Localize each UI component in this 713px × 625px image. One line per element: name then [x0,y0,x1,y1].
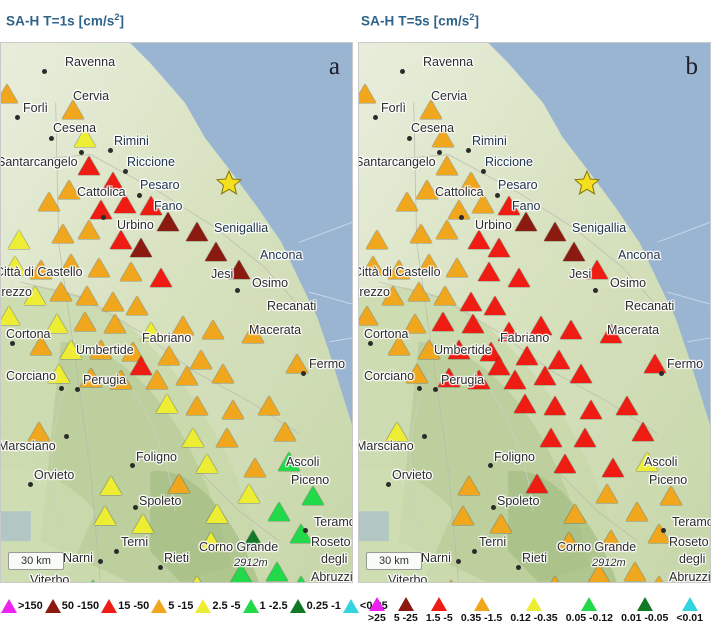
station-triangle [76,286,98,305]
legend-a-row: >15050 -15015 -505 -152.5 -51 -2.50.25 -… [0,588,353,624]
legend-item: 50 -150 [45,599,101,613]
station-triangle [186,222,208,241]
station-triangle [156,394,178,413]
panel-letter-b: b [686,53,699,81]
station-triangle [563,242,585,261]
station-triangle [468,370,490,389]
station-triangle [46,314,68,333]
station-triangle [404,314,426,333]
station-triangle [446,258,468,277]
map-panel-b[interactable]: b RavennaCerviaForlìCesenaRiminiRiccione… [358,42,711,583]
city-dot [437,150,442,155]
station-triangle [438,368,460,387]
land-layer-a [1,43,352,582]
city-dot [373,115,378,120]
station-triangle [458,476,480,495]
map-panel-a[interactable]: a RavennaCerviaForlìCesenaRiminiRiccione… [0,42,353,583]
station-triangle [52,224,74,243]
station-triangle [94,506,116,525]
station-triangle [114,194,136,213]
city-dot [75,387,80,392]
city-dot [661,528,666,533]
city-dot [101,215,106,220]
station-triangle [488,238,510,257]
city-dot [59,386,64,391]
station-triangle [358,306,378,325]
station-triangle [530,316,552,335]
station-triangle [602,458,624,477]
station-triangle [586,260,608,279]
legend-item: 0.35 -1.5 [457,597,507,624]
legend-triangle-icon [526,597,542,611]
legend-item: 0.12 -0.35 [506,597,561,624]
station-triangle [436,156,458,175]
legend-label: 5 -15 [168,600,193,612]
panel-b-title: SA-H T=5s [cm/s2] [361,12,479,29]
legend-panel-a: >15050 -15015 -505 -152.5 -51 -2.50.25 -… [0,588,353,624]
legend-triangle-icon [195,599,211,613]
station-triangle [88,258,110,277]
city-dot [49,136,54,141]
station-triangle [440,580,462,583]
shakemap-figure: SA-H T=1s [cm/s2] SA-H T=5s [cm/s2] [0,0,713,624]
city-dot [386,482,391,487]
station-triangle [172,316,194,335]
station-triangle [436,220,458,239]
station-triangle [290,576,312,583]
station-triangle [644,354,666,373]
station-triangle [408,282,430,301]
station-triangle [132,514,154,533]
station-triangle [74,312,96,331]
panel-b-title-end: ] [475,14,480,29]
station-triangle [382,286,404,305]
legend-triangle-icon [369,597,385,611]
legend-label: 0.25 -1 [307,600,341,612]
legend-label: 1 -2.5 [260,600,288,612]
station-triangle [624,562,646,581]
station-triangle [58,180,80,199]
city-dot [28,482,33,487]
legend-item: 15 -50 [101,599,151,613]
station-triangle [206,504,228,523]
station-triangle [484,296,506,315]
city-dot [593,288,598,293]
city-dot [516,565,521,570]
legend-label: <0.01 [676,612,703,624]
station-triangle [574,428,596,447]
city-dot [42,69,47,74]
legend-label: 5 -25 [394,612,418,624]
station-triangle [396,192,418,211]
legend-triangle-icon [343,599,359,613]
station-triangle [110,370,132,389]
station-triangle [362,256,384,275]
city-dot [488,463,493,468]
station-triangle [126,296,148,315]
legend-triangle-icon [431,597,447,611]
legend-item: 5 -15 [151,599,195,613]
station-triangle [82,580,104,583]
scale-bar-a: 30 km [8,552,64,570]
legend-triangle-icon [45,599,61,613]
station-triangle [120,262,142,281]
legend-triangle-icon [398,597,414,611]
station-triangle [526,474,548,493]
city-dot [472,549,477,554]
station-triangle [302,486,324,505]
station-triangle [8,230,30,249]
city-dot [368,341,373,346]
station-triangle [90,340,112,359]
city-dot [301,371,306,376]
station-triangle [242,324,264,343]
city-dot [79,150,84,155]
city-dot [491,505,496,510]
legend-label: 0.01 -0.05 [621,612,668,624]
panel-a-title-main: SA-H T=1s [cm/s [6,14,114,29]
legend-item: 0.05 -0.12 [562,597,617,624]
legend-label: 0.12 -0.35 [510,612,557,624]
station-triangle [222,400,244,419]
station-triangle [358,84,376,103]
station-triangle [150,268,172,287]
station-triangle [554,454,576,473]
station-triangle [626,502,648,521]
panel-b-title-main: SA-H T=5s [cm/s [361,14,469,29]
station-triangle [158,346,180,365]
station-triangle [60,340,82,359]
station-triangle [570,364,592,383]
station-triangle [0,84,18,103]
city-dot [123,169,128,174]
panel-a-title-end: ] [120,14,125,29]
station-triangle [448,340,470,359]
station-triangle [0,306,20,325]
station-triangle [268,502,290,521]
station-triangle [472,194,494,213]
station-triangle [78,220,100,239]
station-triangle [452,506,474,525]
station-triangle [102,292,124,311]
city-dot [659,371,664,376]
station-triangle [78,156,100,175]
city-dot [422,434,427,439]
station-triangle [600,530,622,549]
station-triangle [140,322,162,341]
station-triangle [200,532,222,551]
legend-panel-b: >255 -251.5 -50.35 -1.50.12 -0.350.05 -0… [358,588,713,624]
city-dot [10,341,15,346]
legend-item: 1.5 -5 [422,597,457,624]
station-triangle [460,172,482,191]
legend-item: <0.01 [672,597,707,624]
station-triangle [4,256,26,275]
legend-triangle-icon [243,599,259,613]
station-triangle [182,428,204,447]
station-triangle [168,474,190,493]
station-triangle [50,282,72,301]
city-dot [459,215,464,220]
land-layer-b [359,43,710,582]
station-triangle [648,524,670,543]
station-triangle [636,452,658,471]
station-triangle [130,238,152,257]
station-triangle [102,172,124,191]
station-triangle [28,422,50,441]
station-triangle [516,346,538,365]
city-dot [400,69,405,74]
station-triangle [100,476,122,495]
station-triangle [242,530,264,549]
station-triangle [580,400,602,419]
station-triangle [508,268,530,287]
city-dot [137,193,142,198]
station-triangle [286,354,308,373]
station-triangle [110,230,132,249]
station-triangle [80,368,102,387]
panel-a-title: SA-H T=1s [cm/s2] [6,12,124,29]
station-triangle [490,514,512,533]
station-triangle [468,230,490,249]
station-triangle [540,428,562,447]
station-triangle [238,484,260,503]
legend-item: 0.25 -1 [290,599,343,613]
city-dot [456,559,461,564]
station-triangle [196,454,218,473]
station-triangle [432,312,454,331]
legend-triangle-icon [682,597,698,611]
city-dot [158,565,163,570]
legend-triangle-icon [101,599,117,613]
city-dot [481,169,486,174]
station-triangle [388,336,410,355]
station-triangle [462,314,484,333]
station-triangle [544,396,566,415]
station-triangle [230,564,252,583]
city-dot [407,136,412,141]
station-triangle [48,364,70,383]
station-triangle [176,366,198,385]
city-dot [495,193,500,198]
station-triangle [157,212,179,231]
station-triangle [410,224,432,243]
epicenter-star-icon [216,170,242,196]
city-dot [98,559,103,564]
station-triangle [515,212,537,231]
city-dot [417,386,422,391]
legend-label: 15 -50 [118,600,149,612]
legend-triangle-icon [581,597,597,611]
map-canvas-b [359,43,710,582]
panel-letter-a: a [329,53,340,81]
station-triangle [432,128,454,147]
station-triangle [290,524,312,543]
station-triangle [460,292,482,311]
legend-label: 1.5 -5 [426,612,453,624]
city-dot [235,288,240,293]
legend-label: 50 -150 [62,600,99,612]
station-triangle [130,356,152,375]
station-triangle [560,320,582,339]
station-triangle [274,422,296,441]
station-triangle [564,504,586,523]
station-triangle [258,396,280,415]
station-triangle [244,458,266,477]
station-triangle [600,324,622,343]
legend-label: >150 [18,600,43,612]
station-triangle [420,100,442,119]
station-triangle [38,192,60,211]
city-dot [114,549,119,554]
legend-b-row: >255 -251.5 -50.35 -1.50.12 -0.350.05 -0… [358,588,713,625]
station-triangle [388,260,410,279]
legend-triangle-icon [637,597,653,611]
city-dot [130,463,135,468]
station-triangle [186,576,208,583]
legend-triangle-icon [151,599,167,613]
station-triangle [186,396,208,415]
legend-triangle-icon [290,599,306,613]
station-triangle [588,564,610,583]
city-dot [133,505,138,510]
station-triangle [104,314,126,333]
station-triangle [406,364,428,383]
station-triangle [660,486,682,505]
station-triangle [616,396,638,415]
city-dot [15,115,20,120]
station-triangle [558,532,580,551]
station-triangle [416,180,438,199]
station-triangle [366,230,388,249]
station-triangle [386,422,408,441]
station-triangle [24,286,46,305]
station-triangle [434,286,456,305]
station-triangle [648,576,670,583]
station-triangle [212,364,234,383]
epicenter-star-icon [574,170,600,196]
legend-triangle-icon [1,599,17,613]
station-triangle [202,320,224,339]
station-triangle [418,254,440,273]
legend-item: 0.01 -0.05 [617,597,672,624]
station-triangle [30,260,52,279]
city-dot [433,387,438,392]
station-triangle [544,222,566,241]
station-triangle [544,576,566,583]
legend-label: 0.05 -0.12 [566,612,613,624]
station-triangle [418,340,440,359]
station-triangle [216,428,238,447]
legend-label: 0.35 -1.5 [461,612,502,624]
station-triangle [62,100,84,119]
city-dot [64,434,69,439]
station-triangle [488,356,510,375]
legend-item: >25 [364,597,390,624]
station-triangle [74,128,96,147]
station-triangle [278,452,300,471]
legend-triangle-icon [474,597,490,611]
station-triangle [534,366,556,385]
station-triangle [478,262,500,281]
station-triangle [596,484,618,503]
station-triangle [60,254,82,273]
station-triangle [228,260,250,279]
station-triangle [266,562,288,581]
scale-bar-b: 30 km [366,552,422,570]
legend-label: >25 [368,612,386,624]
station-triangle [205,242,227,261]
city-dot [466,148,471,153]
legend-item: >150 [1,599,45,613]
legend-item: 1 -2.5 [243,599,290,613]
station-triangle [498,322,520,341]
legend-item: 5 -25 [390,597,422,624]
station-triangle [30,336,52,355]
station-triangle [632,422,654,441]
map-canvas-a [1,43,352,582]
station-triangle [514,394,536,413]
legend-item: 2.5 -5 [195,599,242,613]
city-dot [303,528,308,533]
legend-label: 2.5 -5 [212,600,240,612]
city-dot [108,148,113,153]
